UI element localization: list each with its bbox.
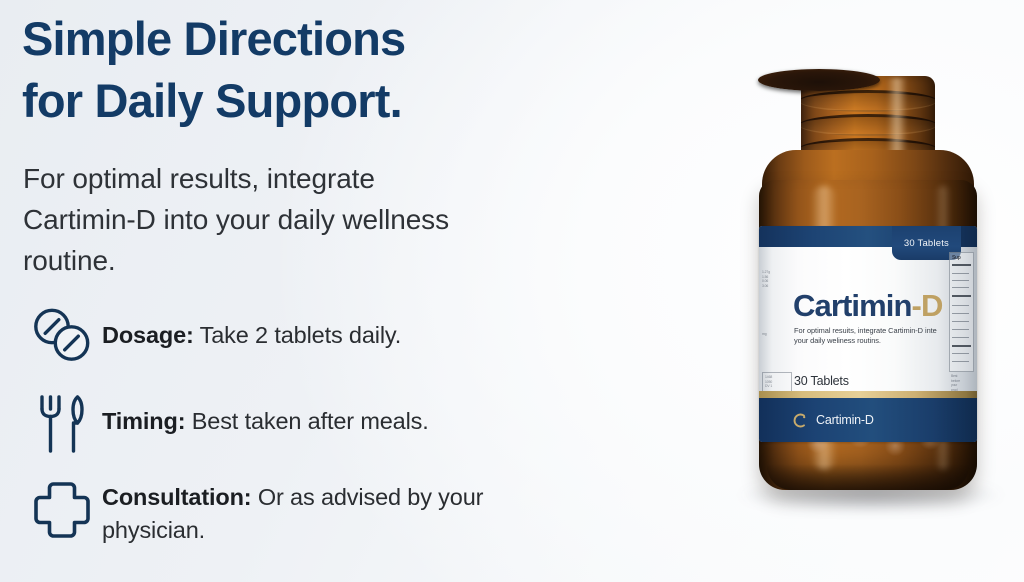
product-image: 30 Tablets 1.27g 1.56 0.06 3.06 mg 1468 … — [712, 0, 1024, 582]
label-tablet-count: 30 Tablets — [794, 374, 849, 388]
list-item-text: Timing: Best taken after meals. — [102, 391, 582, 438]
panel-line — [952, 280, 969, 281]
page-title-line-2: for Daily Support. — [22, 70, 582, 132]
panel-rule — [952, 264, 971, 266]
bottle-label: 30 Tablets 1.27g 1.56 0.06 3.06 mg 1468 … — [759, 226, 977, 442]
page-title-line-1: Simple Directions — [22, 12, 405, 65]
panel-line — [952, 321, 969, 322]
list-item-value: Take 2 tablets daily. — [200, 322, 402, 348]
list-item: Consultation: Or as advised by your phys… — [22, 477, 582, 549]
panel-line — [952, 313, 969, 314]
fork-and-knife-icon — [22, 391, 102, 455]
list-item-label: Dosage: — [102, 322, 194, 348]
pills-icon — [22, 305, 102, 363]
label-micro-text-left-units: mg — [762, 332, 780, 337]
panel-line — [952, 305, 969, 306]
label-micro-text-left-box: 1468 1050 DV 1 — [762, 372, 792, 392]
list-item-label: Timing: — [102, 408, 185, 434]
panel-rule — [952, 345, 971, 347]
bottle-thread — [801, 90, 935, 112]
panel-line — [952, 361, 969, 362]
medical-cross-icon — [22, 477, 102, 541]
directions-slide: Simple Directionsfor Daily Support. For … — [0, 0, 1024, 582]
panel-line — [952, 329, 969, 330]
subtitle-text: For optimal results, integrate Cartimin-… — [23, 158, 473, 281]
list-item: Timing: Best taken after meals. — [22, 391, 582, 463]
content-column: Simple Directionsfor Daily Support. For … — [22, 0, 622, 582]
label-description: For optimal resuits, integrate Cartimin-… — [794, 326, 950, 347]
list-item-label: Consultation: — [102, 484, 251, 510]
label-brand-name: Cartimin-D — [793, 288, 942, 324]
supplement-facts-heading: Sup — [952, 255, 961, 261]
panel-line — [952, 273, 969, 274]
panel-line — [952, 287, 969, 288]
page-title: Simple Directionsfor Daily Support. — [22, 8, 582, 132]
label-footer-brand: Cartimin-D — [816, 413, 874, 427]
directions-list: Dosage: Take 2 tablets daily. — [22, 305, 582, 549]
c-monogram-icon — [791, 412, 808, 429]
label-footer-band: Cartimin-D — [759, 398, 977, 442]
panel-line — [952, 353, 969, 354]
bottle-base-shading — [767, 464, 969, 490]
panel-line — [952, 337, 969, 338]
label-supplement-facts-panel: Sup — [949, 252, 974, 372]
supplement-bottle: 30 Tablets 1.27g 1.56 0.06 3.06 mg 1468 … — [752, 76, 984, 494]
list-item-value: Best taken after meals. — [192, 408, 429, 434]
label-brand-prefix: Cartimin — [793, 288, 912, 323]
list-item-text: Consultation: Or as advised by your phys… — [102, 477, 582, 547]
list-item-text: Dosage: Take 2 tablets daily. — [102, 305, 582, 352]
label-brand-suffix: -D — [912, 288, 943, 323]
list-item: Dosage: Take 2 tablets daily. — [22, 305, 582, 377]
bottle-thread — [801, 114, 935, 136]
panel-rule — [952, 295, 971, 297]
bottle-opening — [758, 69, 880, 91]
label-micro-text-left: 1.27g 1.56 0.06 3.06 — [762, 270, 786, 288]
label-gold-rule — [759, 391, 977, 398]
